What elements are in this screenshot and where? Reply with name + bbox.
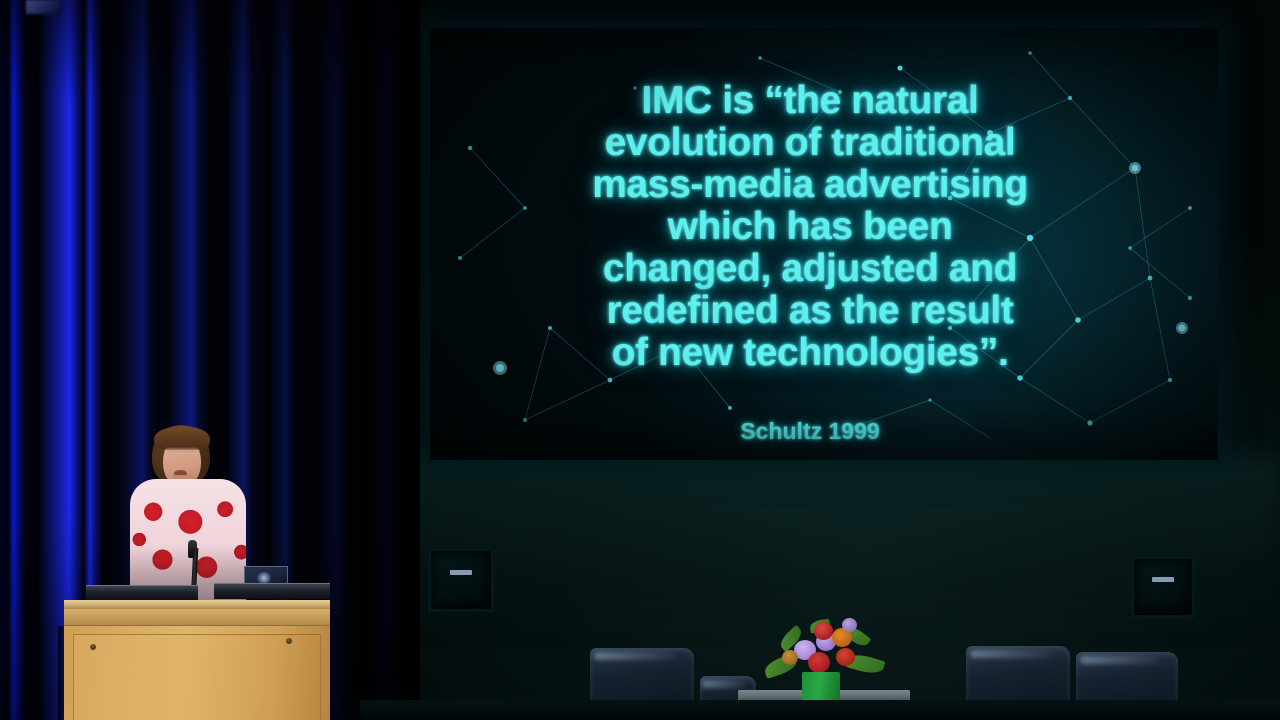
glasses-icon bbox=[164, 450, 200, 457]
quote-line: IMC is “the natural bbox=[490, 80, 1130, 122]
floral-arrangement bbox=[758, 616, 890, 702]
lectern-top-edge bbox=[64, 600, 330, 609]
lectern-fastener bbox=[90, 644, 96, 650]
slide-citation: Schultz 1999 bbox=[490, 418, 1130, 445]
lectern bbox=[64, 600, 330, 720]
wall-speaker-panel-left bbox=[428, 548, 494, 612]
quote-line: redefined as the result bbox=[490, 290, 1130, 332]
flower-bloom bbox=[836, 648, 855, 666]
wall-speaker-panel-right bbox=[1131, 556, 1195, 618]
lectern-body bbox=[64, 626, 330, 720]
lectern-monitor-left bbox=[86, 585, 198, 600]
quote-line: evolution of traditional bbox=[490, 122, 1130, 164]
lectern-monitor-right bbox=[214, 583, 330, 599]
slide-quote-text: IMC is “the natural evolution of traditi… bbox=[490, 80, 1130, 374]
lectern-front-panel bbox=[73, 634, 321, 720]
panel-label-icon bbox=[450, 570, 472, 575]
quote-line: of new technologies”. bbox=[490, 332, 1130, 374]
flower-bloom bbox=[782, 650, 798, 665]
lectern-rail bbox=[64, 609, 330, 626]
quote-line: mass-media advertising bbox=[490, 164, 1130, 206]
lectern-fastener bbox=[286, 638, 292, 644]
stage-floor bbox=[360, 700, 1280, 720]
flower-vase bbox=[802, 672, 840, 702]
flower-bloom bbox=[842, 618, 857, 632]
curtain-top-highlight bbox=[26, 0, 60, 14]
quote-line: which has been bbox=[490, 206, 1130, 248]
panel-label-icon bbox=[1152, 577, 1174, 582]
projection-screen: IMC is “the natural evolution of traditi… bbox=[430, 28, 1218, 460]
presentation-scene: IMC is “the natural evolution of traditi… bbox=[0, 0, 1280, 720]
flower-bloom bbox=[814, 622, 833, 640]
presenter-hair-fringe bbox=[154, 426, 210, 452]
presenter bbox=[130, 425, 246, 605]
flower-bloom bbox=[808, 652, 830, 673]
quote-line: changed, adjusted and bbox=[490, 248, 1130, 290]
